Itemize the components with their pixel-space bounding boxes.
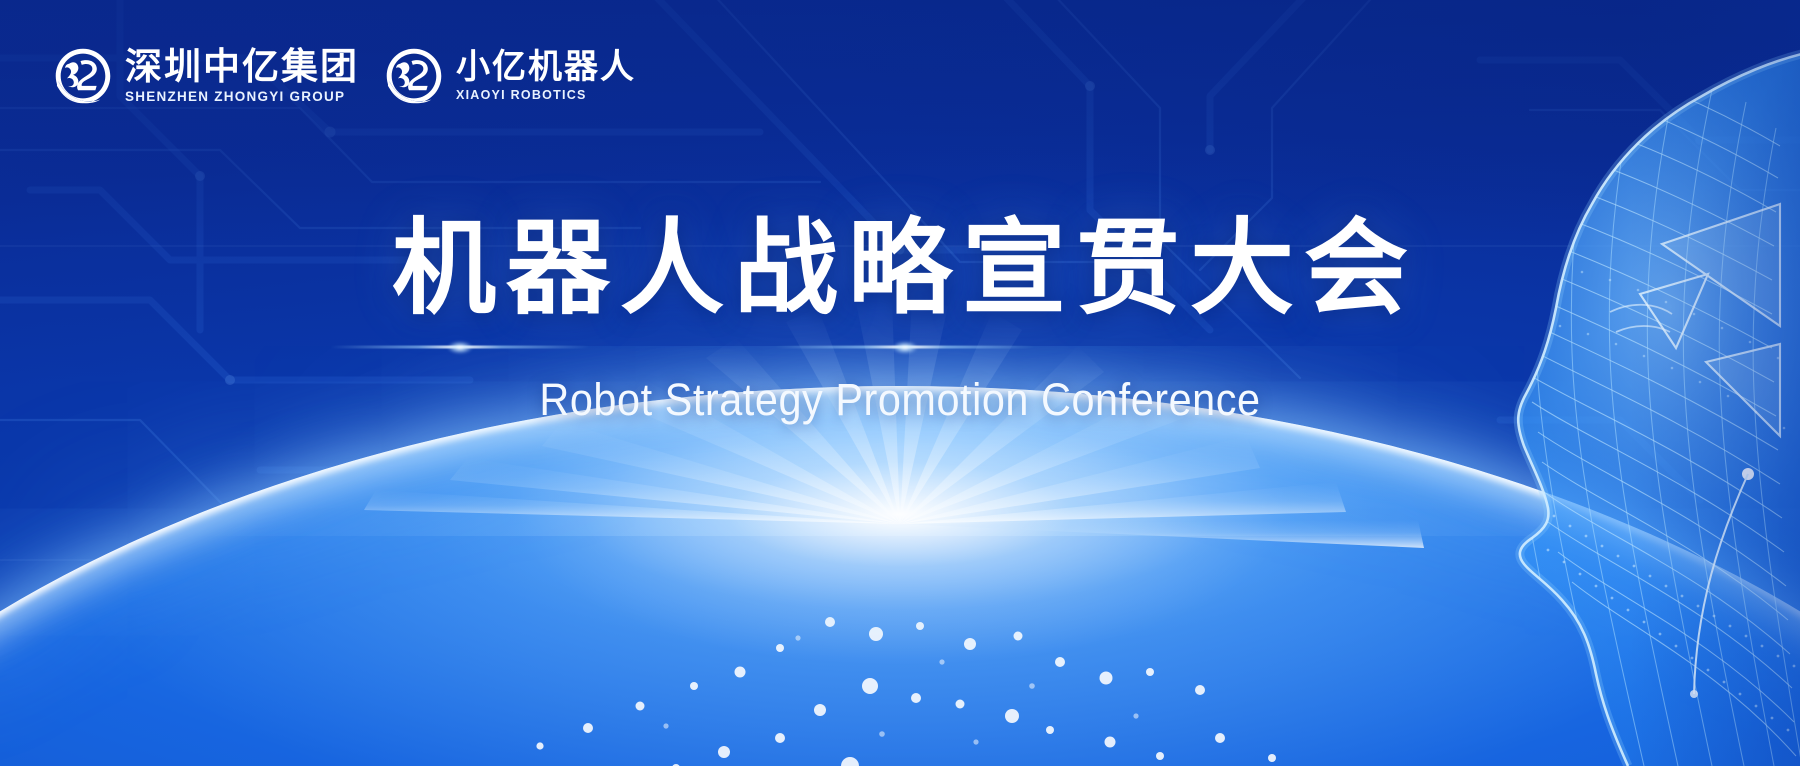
xiaoyi-emblem-icon bbox=[383, 45, 445, 107]
logo-name-cn: 小亿机器人 bbox=[456, 49, 636, 85]
logo-xiaoyi-robotics[interactable]: 小亿机器人 XIAOYI ROBOTICS bbox=[383, 45, 636, 107]
earth-horizon-graphic bbox=[0, 346, 1800, 766]
logo-name-en: SHENZHEN ZHONGYI GROUP bbox=[125, 90, 359, 105]
logo-name-cn: 深圳中亿集团 bbox=[125, 47, 359, 86]
logo-bar: 深圳中亿集团 SHENZHEN ZHONGYI GROUP 小亿机器人 XIAO… bbox=[52, 45, 636, 107]
earth-sphere bbox=[0, 386, 1800, 766]
zhongyi-emblem-icon bbox=[52, 45, 114, 107]
logo-shenzhen-zhongyi-group[interactable]: 深圳中亿集团 SHENZHEN ZHONGYI GROUP bbox=[52, 45, 359, 107]
conference-banner: 深圳中亿集团 SHENZHEN ZHONGYI GROUP 小亿机器人 XIAO… bbox=[0, 0, 1800, 766]
logo-name-en: XIAOYI ROBOTICS bbox=[456, 89, 636, 103]
